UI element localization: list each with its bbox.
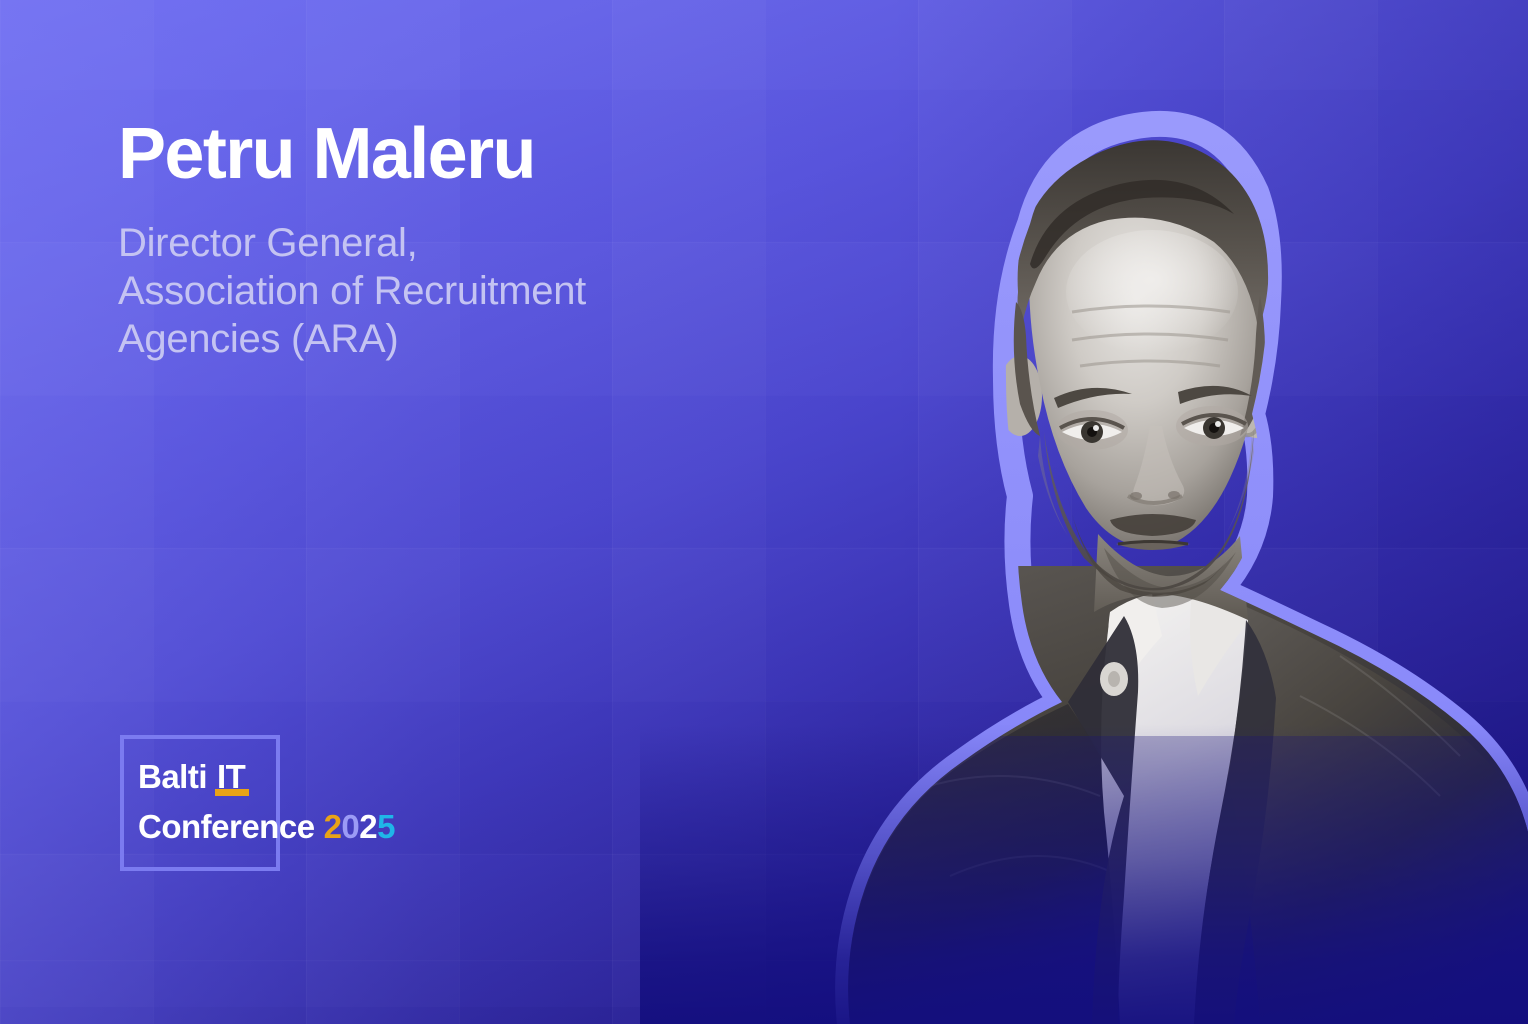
logo-word-conference: Conference <box>138 808 315 845</box>
speaker-role-line-2: Association of Recruitment <box>118 269 586 313</box>
speaker-info: Petru Maleru Director General,Associatio… <box>118 118 738 363</box>
speaker-name: Petru Maleru <box>118 118 738 190</box>
portrait-body <box>700 140 1528 1024</box>
portrait-bottom-tint <box>700 736 1528 1024</box>
lapel-button-hole <box>1108 671 1120 687</box>
nostril-left <box>1130 492 1142 500</box>
speaker-role-line-1: Director General, <box>118 221 417 265</box>
portrait-illustration <box>700 96 1528 1024</box>
event-logo[interactable]: BaltiIT Conference2025 <box>138 756 395 847</box>
logo-year-digit-3: 2 <box>359 806 377 847</box>
logo-year-digit-4: 5 <box>377 806 395 847</box>
speaker-portrait <box>700 96 1528 1024</box>
logo-year-digit-2: 0 <box>341 806 359 847</box>
logo-word-it: IT <box>216 756 246 797</box>
logo-line-1: BaltiIT <box>138 756 395 797</box>
speaker-card: Petru Maleru Director General,Associatio… <box>0 0 1528 1024</box>
logo-year-digit-1: 2 <box>324 806 342 847</box>
speaker-role: Director General,Association of Recruitm… <box>118 190 738 363</box>
logo-line-2: Conference2025 <box>138 806 395 847</box>
nostril-right <box>1168 491 1180 499</box>
speaker-role-line-3: Agencies (ARA) <box>118 317 398 361</box>
logo-word-balti: Balti <box>138 758 207 795</box>
